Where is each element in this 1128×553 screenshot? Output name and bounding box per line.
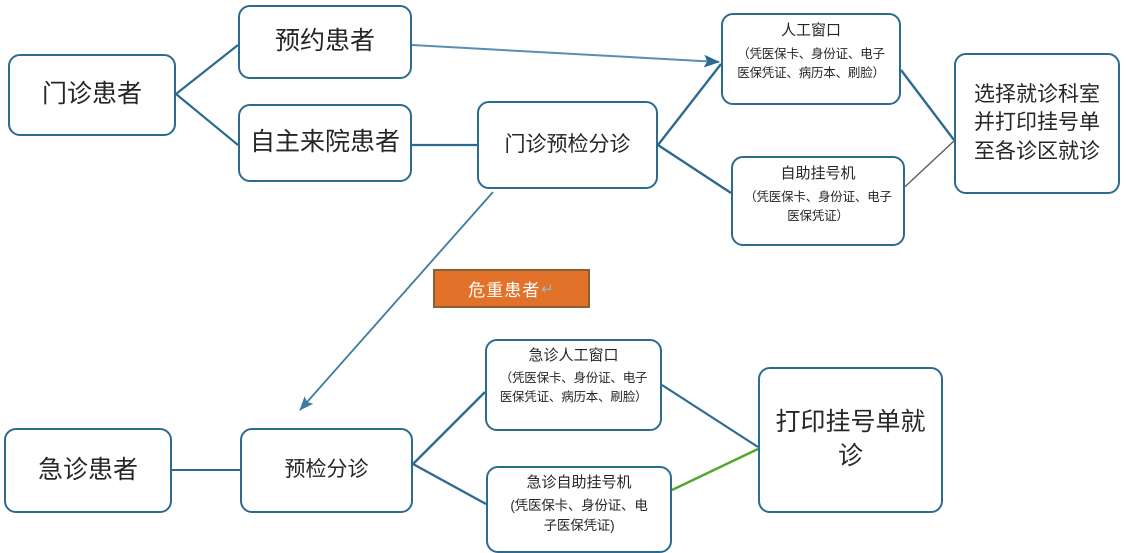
node-self-service-machine[interactable]: 自助挂号机 （凭医保卡、身份证、电子 医保凭证）: [731, 156, 905, 246]
node-choose-department-line3: 至各诊区就诊: [956, 138, 1118, 166]
node-emergency-self-service-machine[interactable]: 急诊自助挂号机 (凭医保卡、身份证、电 子医保凭证): [486, 466, 672, 553]
node-self-service-machine-sub-line2: 医保凭证）: [733, 208, 903, 225]
node-emergency-manual-window-sub-line1: （凭医保卡、身份证、电子: [487, 370, 660, 387]
node-emergency-triage[interactable]: 预检分诊: [240, 428, 413, 513]
edge-emergency-self-service-to-print: [672, 449, 758, 490]
node-emergency-entry[interactable]: 急诊患者: [4, 428, 172, 513]
edge-emergency-triage-to-manual-window: [413, 392, 485, 464]
node-self-service-machine-title: 自助挂号机: [733, 164, 903, 184]
node-outpatient-triage-label: 门诊预检分诊: [479, 131, 656, 159]
edge-emergency-manual-window-to-print: [662, 385, 758, 447]
node-outpatient-triage[interactable]: 门诊预检分诊: [477, 101, 658, 189]
node-appointment-patient[interactable]: 预约患者: [238, 5, 412, 79]
node-emergency-manual-window[interactable]: 急诊人工窗口 （凭医保卡、身份证、电子 医保凭证、病历本、刷脸）: [485, 339, 662, 431]
node-appointment-patient-label: 预约患者: [240, 25, 410, 59]
node-manual-window[interactable]: 人工窗口 （凭医保卡、身份证、电子 医保凭证、病历本、刷脸）: [721, 13, 901, 105]
edge-triage-to-self-service: [658, 145, 731, 193]
node-walkin-patient-label: 自主来院患者: [240, 126, 410, 160]
node-print-ticket[interactable]: 打印挂号单就 诊: [758, 367, 943, 513]
pilcrow-icon: ↵: [541, 280, 555, 298]
node-choose-department-line2: 并打印挂号单: [956, 109, 1118, 137]
node-walkin-patient[interactable]: 自主来院患者: [238, 104, 412, 182]
node-manual-window-sub-line2: 医保凭证、病历本、刷脸）: [723, 65, 899, 82]
node-outpatient-entry[interactable]: 门诊患者: [8, 54, 176, 136]
node-emergency-self-service-machine-title: 急诊自助挂号机: [488, 473, 670, 493]
node-manual-window-sub-line1: （凭医保卡、身份证、电子: [723, 46, 899, 63]
node-emergency-entry-label: 急诊患者: [6, 454, 170, 488]
node-self-service-machine-sub-line1: （凭医保卡、身份证、电子: [733, 189, 903, 206]
node-choose-department-line1: 选择就诊科室: [956, 81, 1118, 109]
edge-appointment-to-manual-window: [412, 45, 719, 62]
node-outpatient-entry-label: 门诊患者: [10, 78, 174, 112]
edge-triage-to-manual-window: [658, 64, 721, 145]
edge-emergency-triage-to-self-service: [413, 464, 486, 504]
edge-outpatient-to-walkin: [176, 94, 238, 145]
node-manual-window-title: 人工窗口: [723, 21, 899, 41]
node-emergency-self-service-machine-sub-line1: (凭医保卡、身份证、电: [488, 497, 670, 515]
banner-critical-patient-label: 危重患者: [468, 276, 540, 301]
node-print-ticket-line1: 打印挂号单就: [760, 406, 941, 440]
flowchart-canvas: 门诊患者 预约患者 自主来院患者 门诊预检分诊 人工窗口 （凭医保卡、身份证、电…: [0, 0, 1128, 553]
node-emergency-manual-window-sub-line2: 医保凭证、病历本、刷脸）: [487, 389, 660, 406]
edge-manual-window-to-choose-department: [901, 70, 954, 140]
banner-critical-patient[interactable]: 危重患者 ↵: [433, 269, 590, 308]
node-emergency-self-service-machine-sub-line2: 子医保凭证): [488, 517, 670, 535]
node-print-ticket-line2: 诊: [760, 440, 941, 474]
edge-outpatient-to-appointment: [176, 45, 238, 94]
node-emergency-triage-label: 预检分诊: [242, 456, 411, 484]
node-choose-department[interactable]: 选择就诊科室 并打印挂号单 至各诊区就诊: [954, 53, 1120, 194]
node-emergency-manual-window-title: 急诊人工窗口: [487, 346, 660, 366]
